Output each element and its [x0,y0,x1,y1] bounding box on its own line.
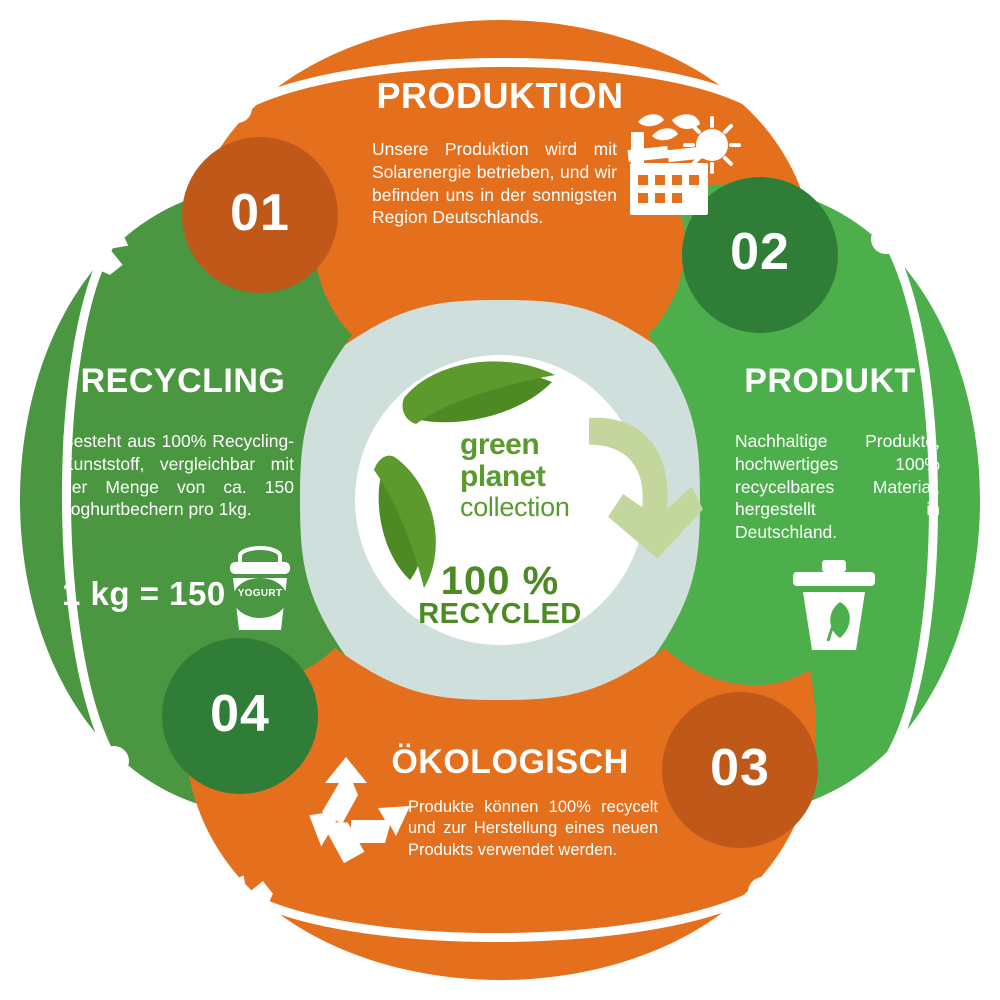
step-number-04: 04 [172,688,308,740]
infographic-canvas: PRODUKTION Unsere Produktion wird mit So… [0,0,1000,1000]
logo-word-collection: collection [460,494,570,521]
step-title-oekologisch: ÖKOLOGISCH [340,745,680,779]
logo-word-green: green [460,430,539,460]
logo-percent: 100 % [380,560,620,602]
step-number-01: 01 [192,187,328,239]
step-number-03: 03 [672,742,808,794]
recycling-equation: 1 kg = 150 [62,575,232,613]
step-title-produkt: PRODUKT [700,364,960,398]
step-body-recycling: Besteht aus 100% Recycling-Kunststoff, v… [62,430,294,521]
yogurt-cup-label: YOGURT [229,588,291,599]
arrow-left-dot [99,746,129,776]
step-title-produktion: PRODUKTION [310,78,690,114]
arrow-top-dot [222,93,252,123]
arrow-right-dot [871,224,901,254]
logo-recycled-label: RECYCLED [380,600,620,629]
logo-word-planet: planet [460,462,545,492]
arrow-bottom-dot [748,877,778,907]
step-body-produktion: Unsere Produktion wird mit Solarenergie … [372,138,617,229]
step-body-oekologisch: Produkte können 100% recycelt und zur He… [408,797,658,861]
step-title-recycling: RECYCLING [48,364,318,398]
step-number-02: 02 [692,226,828,278]
step-body-produkt: Nachhaltige Produkte, hochwertiges 100% … [735,430,940,544]
